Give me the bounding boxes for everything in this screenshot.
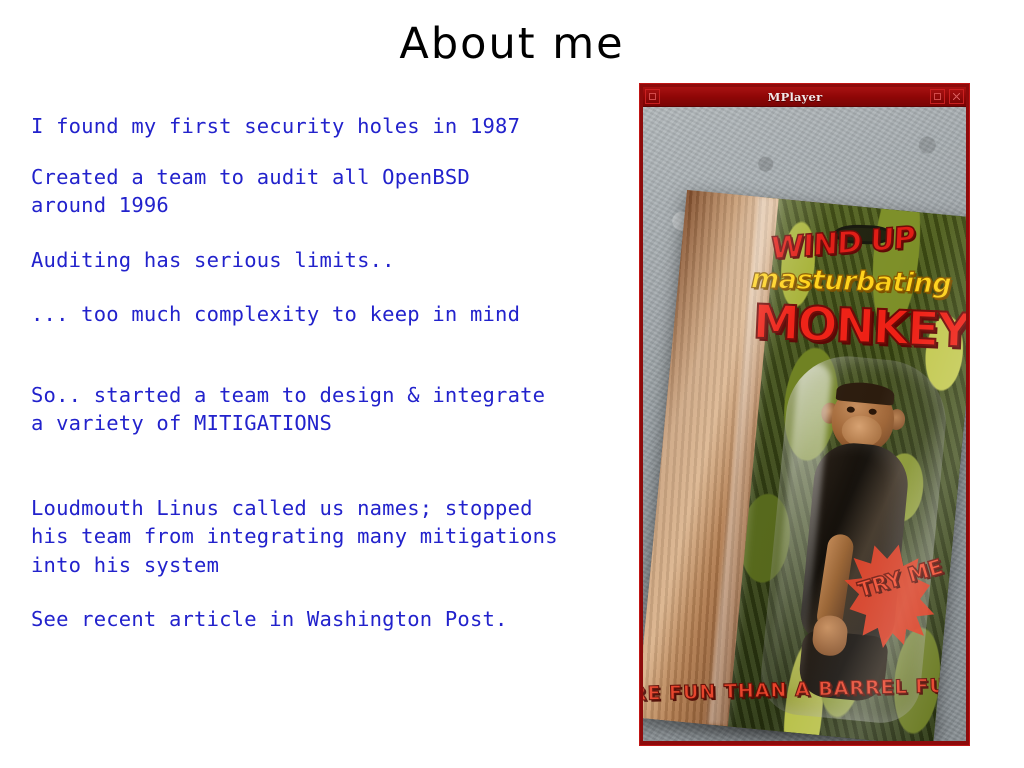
close-icon <box>953 93 960 100</box>
mplayer-title-label: MPlayer <box>662 90 928 104</box>
bullet-paragraph-5: So.. started a team to design & integrat… <box>31 381 631 438</box>
toy-package: WIND UP masturbating MONKEY TRY ME RE FU… <box>643 190 966 741</box>
page-title: About me <box>0 22 1024 67</box>
spacer <box>31 579 631 605</box>
maximize-icon <box>934 93 941 100</box>
bullet-paragraph-6: Loudmouth Linus called us names; stopped… <box>31 494 631 580</box>
maximize-button[interactable] <box>930 89 945 104</box>
mplayer-titlebar[interactable]: MPlayer <box>643 87 966 107</box>
bullet-paragraph-4: ... too much complexity to keep in mind <box>31 300 631 329</box>
close-button[interactable] <box>949 89 964 104</box>
spacer <box>31 141 631 163</box>
spacer <box>31 329 631 381</box>
window-menu-icon <box>649 93 656 100</box>
package-headline-product: masturbating <box>751 265 952 297</box>
spacer <box>31 438 631 494</box>
mplayer-video-surface[interactable]: WIND UP masturbating MONKEY TRY ME RE FU… <box>643 107 966 741</box>
package-headline-name: MONKEY <box>752 299 966 355</box>
bullet-paragraph-7: See recent article in Washington Post. <box>31 605 631 634</box>
bullet-paragraph-3: Auditing has serious limits.. <box>31 246 631 275</box>
window-menu-button[interactable] <box>645 89 660 104</box>
titlebar-left-buttons <box>643 89 662 104</box>
mplayer-window[interactable]: MPlayer <box>639 83 970 746</box>
bullet-paragraph-2: Created a team to audit all OpenBSD arou… <box>31 163 631 220</box>
titlebar-right-buttons <box>928 89 966 104</box>
bullet-paragraph-1: I found my first security holes in 1987 <box>31 112 631 141</box>
spacer <box>31 220 631 246</box>
spacer <box>31 274 631 300</box>
slide-body-text: I found my first security holes in 1987 … <box>31 112 631 634</box>
